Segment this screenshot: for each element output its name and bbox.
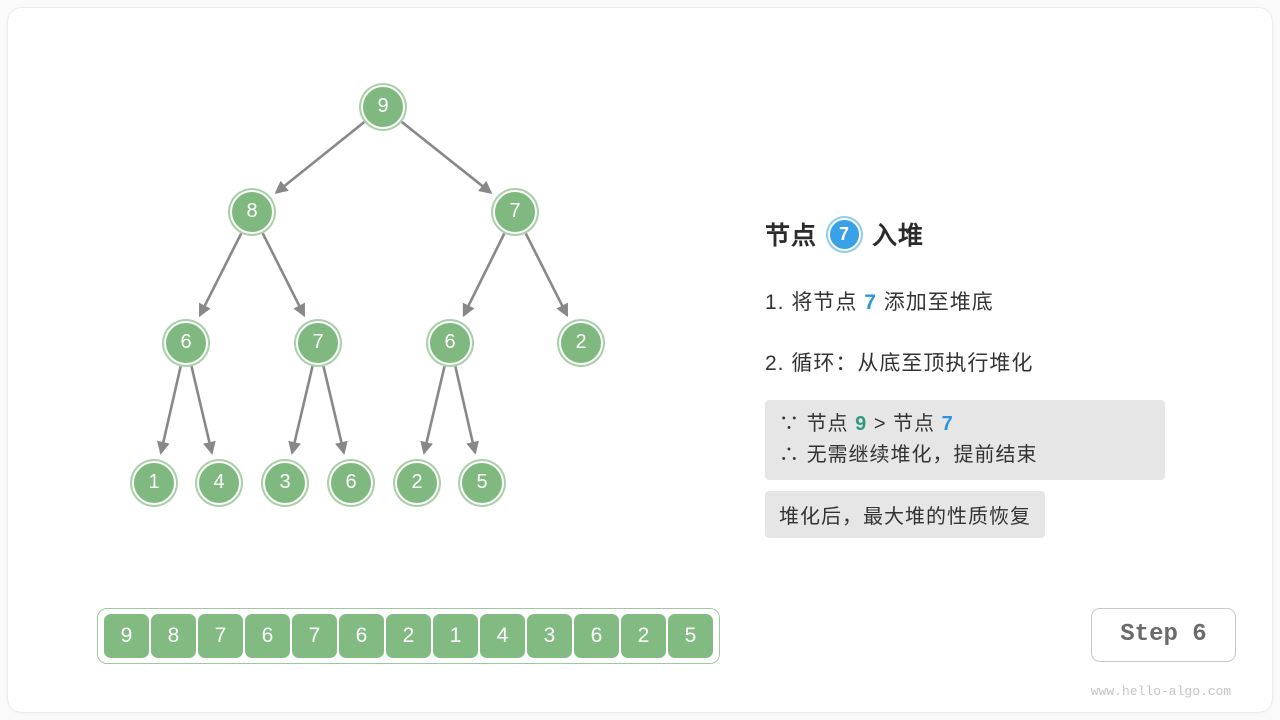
tree-node: 1 bbox=[132, 461, 176, 505]
tree-edge bbox=[192, 366, 212, 452]
step-1-text-after: 添加至堆底 bbox=[884, 291, 994, 314]
note-1-label-b: 节点 bbox=[893, 413, 935, 435]
tree-edge bbox=[276, 122, 364, 193]
tree-edge bbox=[402, 122, 491, 193]
tree-node: 2 bbox=[395, 461, 439, 505]
array-cell: 7 bbox=[198, 614, 243, 658]
step-line-1: 1. 将节点 7 添加至堆底 bbox=[765, 286, 1165, 316]
array-cell: 6 bbox=[245, 614, 290, 658]
step-2-text: 循环：从底至顶执行堆化 bbox=[791, 352, 1033, 375]
array-cell: 2 bbox=[621, 614, 666, 658]
tree-node: 4 bbox=[197, 461, 241, 505]
tree-edge bbox=[292, 366, 312, 452]
panel-title-suffix: 入堆 bbox=[872, 216, 924, 252]
array-cell: 4 bbox=[480, 614, 525, 658]
step-1-value: 7 bbox=[864, 291, 877, 314]
tree-node: 5 bbox=[460, 461, 504, 505]
binary-heap-tree: 9876762143625 bbox=[8, 8, 748, 588]
note-1-label-a: 节点 bbox=[807, 413, 849, 435]
note-2-text: 无需继续堆化，提前结束 bbox=[807, 444, 1038, 466]
tree-node: 6 bbox=[428, 321, 472, 365]
array-cell: 8 bbox=[151, 614, 196, 658]
array-cell: 2 bbox=[386, 614, 431, 658]
tree-edge bbox=[263, 233, 304, 315]
heap-array: 9876762143625 bbox=[97, 608, 720, 664]
array-cell: 1 bbox=[433, 614, 478, 658]
tree-node: 8 bbox=[230, 190, 274, 234]
array-cell: 6 bbox=[574, 614, 619, 658]
comparison-note-box: ∵ 节点 9 > 节点 7 ∴ 无需继续堆化，提前结束 bbox=[765, 400, 1165, 480]
comparison-note-line-2: ∴ 无需继续堆化，提前结束 bbox=[779, 440, 1151, 471]
step-2-index: 2. bbox=[765, 352, 785, 375]
because-symbol: ∵ bbox=[779, 413, 800, 435]
array-cell: 6 bbox=[339, 614, 384, 658]
diagram-card: 9876762143625 9876762143625 节点 7 入堆 1. 将… bbox=[8, 8, 1272, 712]
tree-edge bbox=[324, 366, 344, 452]
tree-node: 3 bbox=[263, 461, 307, 505]
tree-edge bbox=[464, 233, 505, 315]
title-node-badge: 7 bbox=[828, 218, 861, 251]
tree-edge bbox=[526, 233, 567, 315]
tree-edge bbox=[161, 366, 181, 452]
explanation-panel: 节点 7 入堆 1. 将节点 7 添加至堆底 2. 循环：从底至顶执行堆化 ∵ … bbox=[765, 213, 1165, 538]
array-cell: 5 bbox=[668, 614, 713, 658]
note-1-value-b: 7 bbox=[942, 413, 954, 435]
array-cell: 7 bbox=[292, 614, 337, 658]
result-note-box: 堆化后，最大堆的性质恢复 bbox=[765, 491, 1045, 538]
step-1-text-before: 将节点 bbox=[791, 291, 857, 314]
array-cell: 3 bbox=[527, 614, 572, 658]
step-1-index: 1. bbox=[765, 291, 785, 314]
tree-node: 6 bbox=[329, 461, 373, 505]
comparison-note-line-1: ∵ 节点 9 > 节点 7 bbox=[779, 409, 1151, 440]
tree-edge bbox=[200, 233, 241, 315]
therefore-symbol: ∴ bbox=[779, 444, 800, 466]
tree-node: 7 bbox=[296, 321, 340, 365]
note-1-operator: > bbox=[874, 413, 887, 435]
panel-title: 节点 7 入堆 bbox=[765, 213, 1165, 255]
array-cell: 9 bbox=[104, 614, 149, 658]
tree-node: 2 bbox=[559, 321, 603, 365]
page-root: 9876762143625 9876762143625 节点 7 入堆 1. 将… bbox=[0, 0, 1280, 720]
tree-edge bbox=[424, 366, 444, 452]
step-badge: Step 6 bbox=[1091, 608, 1236, 662]
tree-node: 6 bbox=[164, 321, 208, 365]
note-1-value-a: 9 bbox=[855, 413, 867, 435]
step-line-2: 2. 循环：从底至顶执行堆化 bbox=[765, 347, 1165, 377]
tree-edge bbox=[455, 366, 475, 452]
panel-title-prefix: 节点 bbox=[765, 216, 817, 252]
tree-node: 7 bbox=[493, 190, 537, 234]
watermark: www.hello-algo.com bbox=[1081, 684, 1241, 699]
tree-node: 9 bbox=[361, 85, 405, 129]
